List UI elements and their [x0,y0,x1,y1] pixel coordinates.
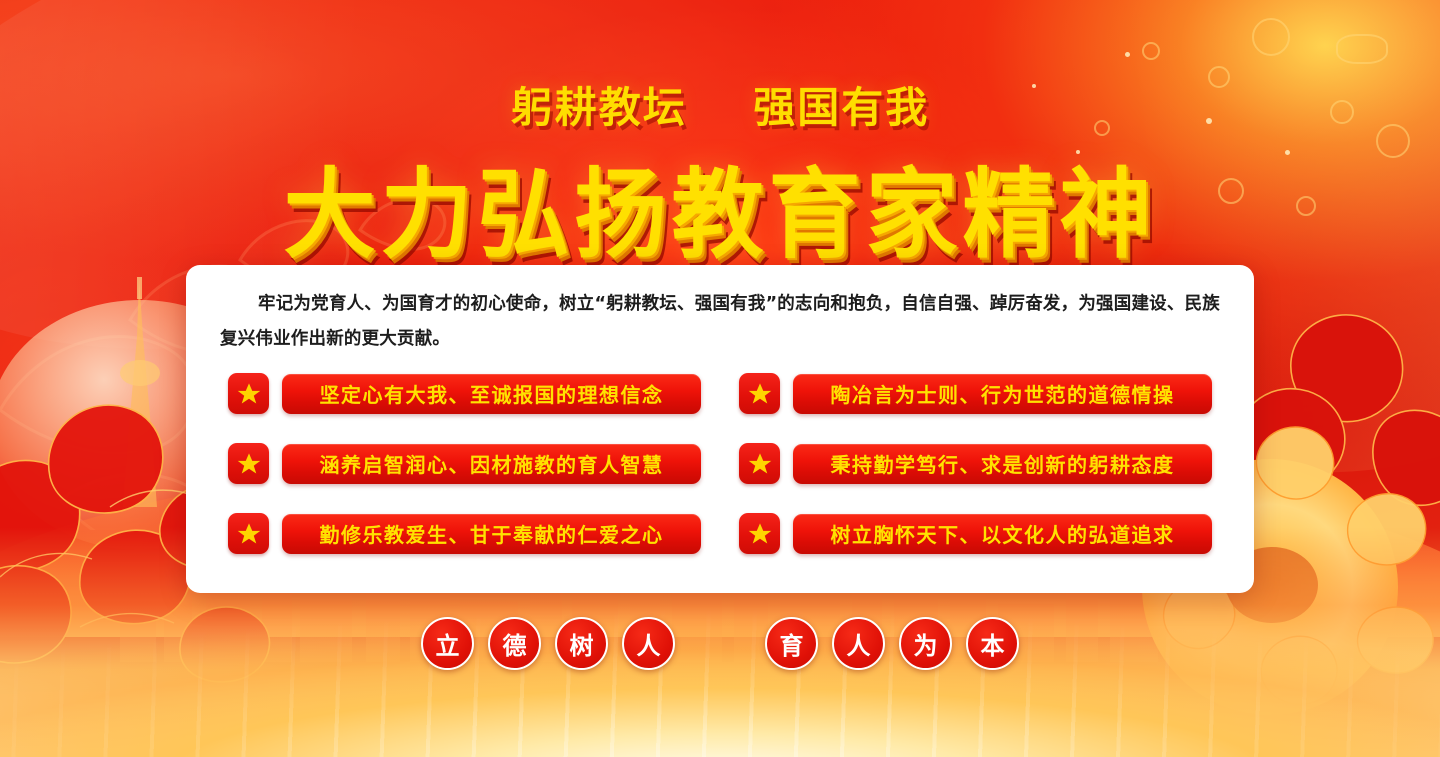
principle-text: 勤修乐教爱生、甘于奉献的仁爱之心 [282,514,701,554]
slogan-circle: 育 [765,617,818,670]
poster-canvas: 躬耕教坛 强国有我 大力弘扬教育家精神 牢记为党育人、为国育才的初心使命，树立“… [0,0,1440,757]
list-item[interactable]: 树立胸怀天下、以文化人的弘道追求 [739,513,1212,554]
poster-subtitle: 躬耕教坛 强国有我 [0,74,1440,135]
star-icon [739,443,780,484]
principle-text: 涵养启智润心、因材施教的育人智慧 [282,444,701,484]
slogan-row: 立 德 树 人 育 人 为 本 [0,617,1440,670]
content-card: 牢记为党育人、为国育才的初心使命，树立“躬耕教坛、强国有我”的志向和抱负，自信自… [186,265,1254,593]
principle-text: 坚定心有大我、至诚报国的理想信念 [282,374,701,414]
slogan-circle: 本 [966,617,1019,670]
star-icon [739,373,780,414]
poster-title: 大力弘扬教育家精神 [0,136,1440,277]
list-item[interactable]: 陶冶言为士则、行为世范的道德情操 [739,373,1212,414]
slogan-circle: 人 [832,617,885,670]
slogan-circle: 立 [421,617,474,670]
slogan-circle: 为 [899,617,952,670]
slogan-circle: 人 [622,617,675,670]
slogan-circle: 德 [488,617,541,670]
star-icon [228,513,269,554]
list-item[interactable]: 秉持勤学笃行、求是创新的躬耕态度 [739,443,1212,484]
slogan-circle: 树 [555,617,608,670]
star-icon [228,373,269,414]
list-item[interactable]: 勤修乐教爱生、甘于奉献的仁爱之心 [228,513,701,554]
principle-text: 树立胸怀天下、以文化人的弘道追求 [793,514,1212,554]
list-item[interactable]: 坚定心有大我、至诚报国的理想信念 [228,373,701,414]
list-item[interactable]: 涵养启智润心、因材施教的育人智慧 [228,443,701,484]
star-icon [739,513,780,554]
principles-grid: 坚定心有大我、至诚报国的理想信念 陶冶言为士则、行为世范的道德情操 涵养启智润心… [228,373,1212,554]
principle-text: 陶冶言为士则、行为世范的道德情操 [793,374,1212,414]
card-paragraph: 牢记为党育人、为国育才的初心使命，树立“躬耕教坛、强国有我”的志向和抱负，自信自… [220,287,1220,357]
principle-text: 秉持勤学笃行、求是创新的躬耕态度 [793,444,1212,484]
star-icon [228,443,269,484]
